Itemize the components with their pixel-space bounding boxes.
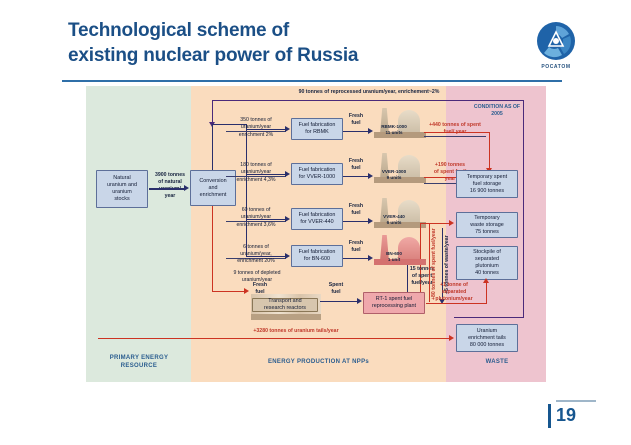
box-uranium-enrichment-tails: Uranium enrichment tails 80 000 tonnes: [456, 324, 518, 352]
label-fresh-fuel-rbmk: Fresh fuel: [344, 113, 368, 127]
label-fresh-fuel-vver1000: Fresh fuel: [344, 158, 368, 172]
title-line-1: Technological scheme of: [68, 20, 289, 41]
page-number-rule: [556, 400, 596, 402]
page-number-bar: [548, 404, 551, 428]
loop-line-left-down: [212, 100, 213, 124]
box-transport-research-reactors: Transport and research reactors: [252, 298, 318, 312]
page-number: 19: [556, 405, 576, 426]
line-rbmk-spent: [424, 132, 490, 133]
box-fuel-fabrication-rbmk: Fuel fabrication for RBMK: [291, 118, 343, 140]
label-fresh-fuel-bn600: Fresh fuel: [344, 240, 368, 254]
label-vver440-feed-enrichment: enrichment 3,6%: [226, 222, 286, 229]
title-line-2: existing nuclear power of Russia: [68, 43, 498, 68]
zone-label-primary: PRIMARY ENERGY RESOURCE: [96, 354, 182, 370]
loop-line-right: [523, 100, 524, 318]
label-bn600-feed-enrichment: enrichment 20%: [226, 258, 286, 265]
arrow-to-transport-reactors: [244, 288, 249, 294]
arrow-to-temp-waste: [449, 220, 454, 226]
line-natural-to-conversion: [149, 188, 185, 190]
box-rt1-reprocessing-plant: RT-1 spent fuel reprocessing plant: [363, 292, 425, 314]
line-transport-to-rt1: [320, 301, 358, 302]
arrow-transport-to-rt1: [357, 298, 362, 304]
line-plutonium-h: [426, 303, 487, 304]
reactor-rbmk: RBMK-1000 11 units: [374, 108, 426, 138]
box-plutonium-stockpile: Stockpile of separated plutonium 40 tonn…: [456, 246, 518, 280]
line-to-ff-bn600: [246, 256, 286, 257]
spine-vertical: [246, 124, 247, 256]
line-to-ff-vver1000: [246, 174, 286, 175]
box-fuel-fabrication-vver1000: Fuel fabrication for VVER-1000: [291, 163, 343, 185]
line-to-ff-rbmk: [246, 129, 286, 130]
label-vver1000-feed-enrichment: enrichment 4,3%: [226, 177, 286, 184]
line-vver1000-spent: [424, 177, 458, 178]
zone-label-waste: WASTE: [466, 358, 528, 366]
arrow-to-ff-vver1000: [285, 171, 290, 177]
condition-as-of-label: CONDITION AS OF 2005: [458, 104, 536, 118]
label-rbmk-spent-qty: +440 tonnes of spent fuel/ year: [424, 122, 486, 137]
arrow-to-ff-rbmk: [285, 126, 290, 132]
line-to-ff-vver440: [246, 219, 286, 220]
rosatom-icon: [526, 20, 586, 64]
label-spent-fuel-transport: Spent fuel: [324, 282, 348, 296]
technological-scheme-diagram: PRIMARY ENERGY RESOURCE ENERGY PRODUCTIO…: [86, 86, 546, 382]
box-temporary-waste-storage: Temporary waste storage 75 tonnes: [456, 212, 518, 238]
reactor-vver440: VVER-440 6 units: [374, 198, 426, 228]
line-ff-bn600-to-reactor: [343, 258, 369, 259]
line-ff-vver1000-to-reactor: [343, 176, 369, 177]
arrow-to-ff-vver440: [285, 216, 290, 222]
logo-wordmark: РОСАТОМ: [526, 64, 586, 70]
reactor-vver1000: VVER-1000 9 units: [374, 153, 426, 183]
arrow-ff-vver1000-to-reactor: [368, 173, 373, 179]
spine-up: [212, 124, 213, 170]
arrow-ff-rbmk-to-reactor: [368, 128, 373, 134]
rosatom-logo: РОСАТОМ: [526, 20, 586, 78]
label-rbmk-feed-enrichment: enrichment 2%: [226, 132, 286, 139]
box-fuel-fabrication-vver440: Fuel fabrication for VVER-440: [291, 208, 343, 230]
box-temporary-spent-fuel-storage: Temporary spent fuel storage 16 900 tonn…: [456, 170, 518, 198]
box-natural-uranium: Natural uranium and uranium stocks: [96, 170, 148, 208]
title-divider: [62, 80, 562, 82]
arrow-uranium-tails: [449, 335, 454, 341]
label-fresh-fuel-vver440: Fresh fuel: [344, 203, 368, 217]
page-title: Technological scheme of existing nuclear…: [68, 18, 498, 68]
label-uranium-tails-flow: +3280 tonnes of uranium tails/year: [206, 328, 386, 335]
arrow-natural-to-conversion: [184, 185, 189, 191]
line-to-temp-waste: [420, 223, 450, 224]
line-rbmk-spent-down: [489, 132, 490, 170]
arrow-ff-bn600-to-reactor: [368, 255, 373, 261]
box-fuel-fabrication-bn600: Fuel fabrication for BN-600: [291, 245, 343, 267]
line-conversion-to-transport-h: [212, 291, 246, 292]
label-plutonium-flow: +1 tonne of separated plutonium/year: [426, 282, 482, 303]
transport-base-icon: [251, 314, 321, 320]
arrow-to-ff-bn600: [285, 253, 290, 259]
label-reprocessed-uranium: 90 tonnes of reprocessed uranium/year, e…: [244, 89, 494, 96]
arrow-ff-vver440-to-reactor: [368, 218, 373, 224]
arrow-plutonium-up: [483, 278, 489, 283]
line-ff-rbmk-to-reactor: [343, 131, 369, 132]
loop-line-bottom: [454, 317, 524, 318]
zone-label-production: ENERGY PRODUCTION AT NPPs: [211, 358, 426, 366]
line-uranium-tails: [98, 338, 450, 339]
reactor-bn600: BN-600 1 unit: [374, 235, 426, 265]
line-ff-vver440-to-reactor: [343, 221, 369, 222]
loop-line-top: [212, 100, 524, 101]
line-plutonium-up: [486, 282, 487, 304]
